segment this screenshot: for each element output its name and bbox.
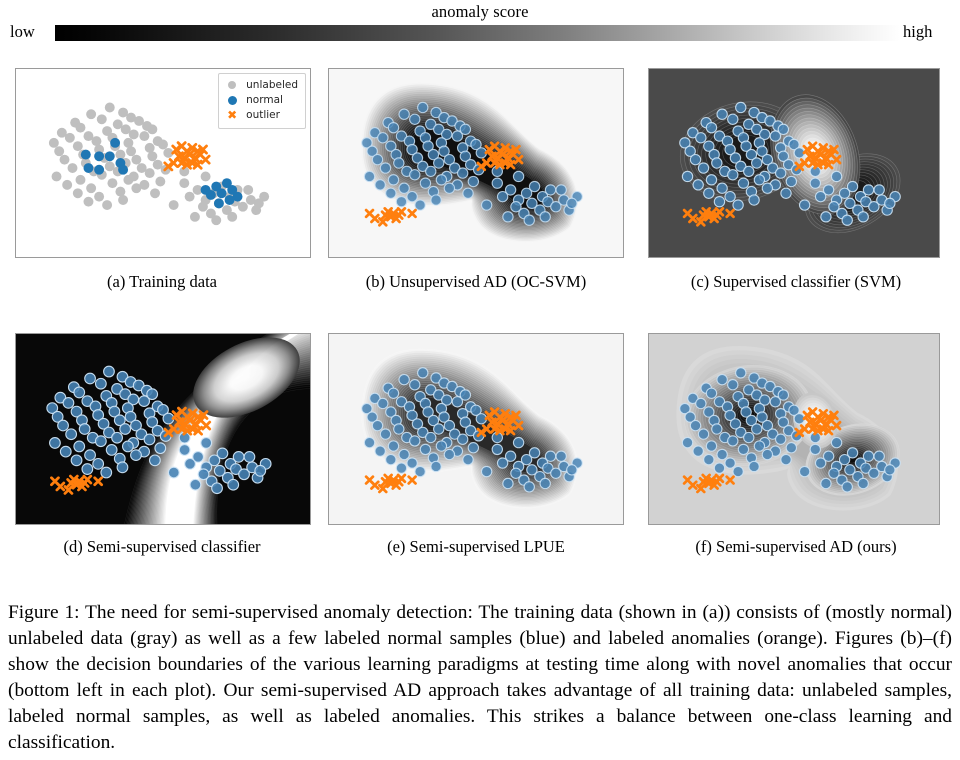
panel-d-plot	[16, 334, 310, 524]
data-point	[468, 443, 478, 453]
data-point	[452, 131, 462, 141]
data-point	[372, 420, 382, 430]
data-point	[831, 171, 841, 181]
data-point	[874, 451, 884, 461]
legend-item-outlier: ✖ outlier	[225, 108, 298, 123]
data-point	[190, 212, 200, 222]
data-point	[145, 168, 155, 178]
data-point	[388, 441, 398, 451]
data-point	[254, 198, 264, 208]
data-point	[60, 155, 70, 165]
data-point	[81, 150, 91, 160]
data-point	[227, 212, 237, 222]
data-point	[147, 124, 157, 134]
data-point	[752, 424, 762, 434]
data-point	[94, 165, 104, 175]
data-point	[434, 158, 444, 168]
data-point	[885, 198, 895, 208]
data-point	[115, 187, 125, 197]
data-point	[696, 133, 706, 143]
data-point	[436, 441, 446, 451]
data-point	[513, 171, 523, 181]
data-point	[436, 175, 446, 185]
data-point	[556, 185, 566, 195]
data-point	[85, 373, 96, 384]
data-point	[399, 183, 409, 193]
data-point	[95, 378, 106, 389]
data-point	[386, 454, 396, 464]
data-point	[190, 479, 201, 490]
data-point	[781, 188, 791, 198]
data-point	[690, 154, 700, 164]
data-point	[706, 123, 716, 133]
data-point	[431, 461, 441, 471]
data-point	[410, 380, 420, 390]
data-point	[399, 374, 409, 384]
data-point	[733, 200, 743, 210]
outlier-marker-icon: ✖	[225, 109, 239, 121]
data-point	[418, 102, 428, 112]
unlabeled-marker-icon	[225, 81, 239, 89]
normal-marker-icon	[225, 96, 239, 105]
data-point	[420, 178, 430, 188]
data-point	[503, 478, 513, 488]
data-point	[714, 463, 724, 473]
data-point	[71, 455, 82, 466]
data-point	[513, 437, 523, 447]
data-point	[545, 451, 555, 461]
data-point	[65, 133, 75, 143]
data-point	[426, 432, 436, 442]
data-point	[505, 451, 515, 461]
data-point	[738, 178, 748, 188]
legend-label-outlier: outlier	[246, 108, 280, 123]
panel-e-semisupervised-lpue	[328, 333, 624, 525]
data-point	[781, 454, 791, 464]
data-point	[104, 366, 115, 377]
data-point	[458, 434, 468, 444]
data-point	[94, 151, 104, 161]
data-point	[169, 200, 179, 210]
data-point	[682, 171, 692, 181]
data-point	[73, 141, 83, 151]
data-point	[79, 424, 90, 435]
data-point	[706, 441, 716, 451]
data-point	[434, 424, 444, 434]
data-point	[444, 183, 454, 193]
data-point	[375, 180, 385, 190]
data-point	[74, 387, 85, 398]
panel-a-training-data: unlabeled normal ✖ outlier	[15, 68, 311, 258]
data-point	[704, 454, 714, 464]
data-point	[799, 466, 809, 476]
data-point	[212, 483, 223, 494]
panel-a-caption: (a) Training data	[12, 272, 312, 292]
data-point	[201, 172, 211, 182]
data-point	[129, 129, 139, 139]
data-point	[821, 478, 831, 488]
data-point	[714, 197, 724, 207]
data-point	[725, 458, 735, 468]
data-point	[139, 396, 150, 407]
data-point	[762, 449, 772, 459]
panel-b-caption: (b) Unsupervised AD (OC-SVM)	[326, 272, 626, 292]
data-point	[399, 109, 409, 119]
data-point	[452, 397, 462, 407]
data-point	[693, 180, 703, 190]
data-point	[762, 183, 772, 193]
data-point	[60, 446, 71, 457]
data-point	[529, 448, 539, 458]
data-point	[97, 114, 107, 124]
data-point	[386, 188, 396, 198]
data-point	[728, 170, 738, 180]
data-point	[155, 443, 166, 454]
data-point	[858, 212, 868, 222]
data-point	[105, 151, 115, 161]
data-point	[567, 465, 577, 475]
data-point	[863, 185, 873, 195]
data-point	[698, 163, 708, 173]
data-point	[49, 138, 59, 148]
data-point	[706, 388, 716, 398]
data-point	[115, 150, 125, 160]
data-point	[481, 200, 491, 210]
data-point	[712, 424, 722, 434]
data-point	[375, 446, 385, 456]
data-point	[492, 444, 502, 454]
data-point	[823, 451, 833, 461]
data-point	[150, 188, 160, 198]
data-point	[752, 158, 762, 168]
panel-f-plot	[649, 334, 939, 524]
data-point	[540, 478, 550, 488]
data-point	[847, 181, 857, 191]
data-point	[728, 380, 738, 390]
legend-item-unlabeled: unlabeled	[225, 78, 298, 93]
data-point	[394, 424, 404, 434]
data-point	[431, 195, 441, 205]
data-point	[418, 368, 428, 378]
data-point	[85, 450, 96, 461]
data-point	[463, 188, 473, 198]
data-point	[62, 180, 72, 190]
data-point	[155, 177, 165, 187]
data-point	[86, 109, 96, 119]
data-point	[102, 200, 112, 210]
data-point	[120, 424, 131, 435]
data-point	[380, 429, 390, 439]
legend: unlabeled normal ✖ outlier	[218, 73, 306, 129]
data-point	[139, 131, 149, 141]
data-point	[86, 183, 96, 193]
data-point	[131, 183, 141, 193]
data-point	[712, 158, 722, 168]
data-point	[255, 465, 266, 476]
data-point	[503, 212, 513, 222]
data-point	[150, 455, 161, 466]
data-point	[736, 102, 746, 112]
data-point	[749, 461, 759, 471]
data-point	[123, 175, 133, 185]
data-point	[725, 191, 735, 201]
data-point	[831, 437, 841, 447]
data-point	[754, 441, 764, 451]
data-point	[492, 178, 502, 188]
data-point	[415, 200, 425, 210]
data-point	[717, 374, 727, 384]
data-point	[84, 197, 94, 207]
data-point	[704, 188, 714, 198]
data-point	[540, 212, 550, 222]
data-point	[372, 154, 382, 164]
data-point	[58, 420, 69, 431]
data-point	[378, 133, 388, 143]
legend-item-normal: normal	[225, 93, 298, 108]
data-point	[243, 185, 253, 195]
data-point	[118, 165, 128, 175]
data-point	[123, 441, 134, 452]
data-point	[810, 178, 820, 188]
data-point	[770, 131, 780, 141]
data-point	[110, 138, 120, 148]
data-point	[847, 448, 857, 458]
data-point	[524, 482, 534, 492]
data-point	[380, 163, 390, 173]
data-point	[50, 438, 61, 449]
data-point	[68, 163, 78, 173]
data-point	[93, 458, 104, 469]
data-point	[144, 434, 155, 445]
panel-d-semisupervised-classifier	[15, 333, 311, 525]
data-point	[821, 212, 831, 222]
data-point	[693, 446, 703, 456]
data-point	[754, 175, 764, 185]
data-point	[54, 146, 64, 156]
legend-label-normal: normal	[246, 93, 283, 108]
panel-c-caption: (c) Supervised classifier (SVM)	[646, 272, 946, 292]
data-point	[738, 444, 748, 454]
data-point	[410, 170, 420, 180]
data-point	[776, 434, 786, 444]
data-point	[95, 436, 106, 447]
data-point	[118, 195, 128, 205]
data-point	[214, 198, 224, 208]
data-point	[458, 168, 468, 178]
data-point	[874, 185, 884, 195]
data-point	[733, 466, 743, 476]
data-point	[415, 466, 425, 476]
data-point	[399, 449, 409, 459]
data-point	[73, 188, 83, 198]
data-point	[202, 156, 209, 163]
data-point	[378, 398, 388, 408]
data-point	[463, 454, 473, 464]
data-point	[388, 123, 398, 133]
data-point	[74, 441, 85, 452]
colorbar-low-label: low	[10, 22, 35, 42]
data-point	[198, 202, 208, 212]
data-point	[106, 445, 117, 456]
data-point	[52, 172, 62, 182]
data-point	[94, 192, 104, 202]
data-point	[696, 398, 706, 408]
data-point	[420, 444, 430, 454]
colorbar-title: anomaly score	[0, 2, 960, 22]
data-point	[105, 103, 115, 113]
data-point	[84, 163, 94, 173]
data-point	[717, 449, 727, 459]
data-point	[117, 462, 128, 473]
data-point	[145, 143, 155, 153]
data-point	[698, 429, 708, 439]
colorbar-high-label: high	[903, 22, 932, 42]
data-point	[728, 436, 738, 446]
data-point	[744, 166, 754, 176]
figure-caption: Figure 1: The need for semi-supervised a…	[8, 600, 952, 757]
data-point	[233, 452, 244, 463]
data-point	[112, 432, 123, 443]
data-point	[524, 215, 534, 225]
data-point	[217, 448, 228, 459]
data-point	[364, 171, 374, 181]
data-point	[101, 467, 112, 478]
data-point	[717, 183, 727, 193]
data-point	[810, 444, 820, 454]
data-point	[225, 195, 235, 205]
data-point	[545, 185, 555, 195]
data-point	[179, 445, 190, 456]
data-point	[168, 467, 179, 478]
data-point	[786, 443, 796, 453]
data-point	[147, 151, 157, 161]
data-point	[706, 175, 716, 185]
data-point	[410, 436, 420, 446]
data-point	[63, 398, 74, 409]
data-point	[556, 451, 566, 461]
data-point	[885, 465, 895, 475]
panel-b-unsupervised-ad	[328, 68, 624, 258]
data-point	[201, 185, 211, 195]
data-point	[505, 185, 515, 195]
data-point	[567, 198, 577, 208]
data-point	[388, 388, 398, 398]
data-point	[123, 138, 133, 148]
data-point	[396, 197, 406, 207]
data-point	[842, 482, 852, 492]
data-point	[179, 178, 189, 188]
panel-f-semisupervised-ad-ours	[648, 333, 940, 525]
data-point	[201, 438, 212, 449]
data-point	[842, 215, 852, 225]
data-point	[131, 155, 141, 165]
data-point	[468, 176, 478, 186]
legend-label-unlabeled: unlabeled	[246, 78, 298, 93]
data-point	[82, 464, 93, 475]
panel-b-plot	[329, 69, 623, 257]
panel-e-caption: (e) Semi-supervised LPUE	[326, 537, 626, 557]
data-point	[228, 479, 239, 490]
data-point	[529, 181, 539, 191]
data-point	[126, 146, 136, 156]
data-point	[682, 437, 692, 447]
data-point	[394, 158, 404, 168]
data-point	[736, 368, 746, 378]
data-point	[426, 166, 436, 176]
data-point	[364, 437, 374, 447]
data-point	[396, 463, 406, 473]
data-point	[728, 114, 738, 124]
data-point	[823, 185, 833, 195]
data-point	[193, 452, 204, 463]
data-point	[749, 195, 759, 205]
data-point	[131, 450, 142, 461]
data-point	[717, 109, 727, 119]
colorbar-block: anomaly score low high	[0, 0, 960, 52]
data-point	[211, 215, 221, 225]
data-point	[744, 432, 754, 442]
data-point	[91, 136, 101, 146]
data-point	[690, 420, 700, 430]
data-point	[444, 449, 454, 459]
data-point	[185, 192, 195, 202]
data-point	[76, 175, 86, 185]
data-point	[481, 466, 491, 476]
data-point	[66, 429, 77, 440]
data-point	[799, 200, 809, 210]
data-point	[238, 202, 248, 212]
data-point	[244, 452, 255, 463]
data-point	[786, 176, 796, 186]
data-point	[76, 123, 86, 133]
panel-f-caption: (f) Semi-supervised AD (ours)	[646, 537, 946, 557]
panel-c-plot	[649, 69, 939, 257]
data-point	[770, 397, 780, 407]
data-point	[410, 114, 420, 124]
data-point	[217, 188, 227, 198]
colorbar-gradient	[55, 25, 900, 41]
data-point	[858, 478, 868, 488]
data-point	[107, 178, 117, 188]
data-point	[158, 140, 168, 150]
data-point	[407, 458, 417, 468]
data-point	[776, 168, 786, 178]
panel-d-caption: (d) Semi-supervised classifier	[12, 537, 312, 557]
panel-c-supervised-classifier	[648, 68, 940, 258]
data-point	[863, 451, 873, 461]
data-point	[407, 191, 417, 201]
panel-e-plot	[329, 334, 623, 524]
data-point	[388, 175, 398, 185]
